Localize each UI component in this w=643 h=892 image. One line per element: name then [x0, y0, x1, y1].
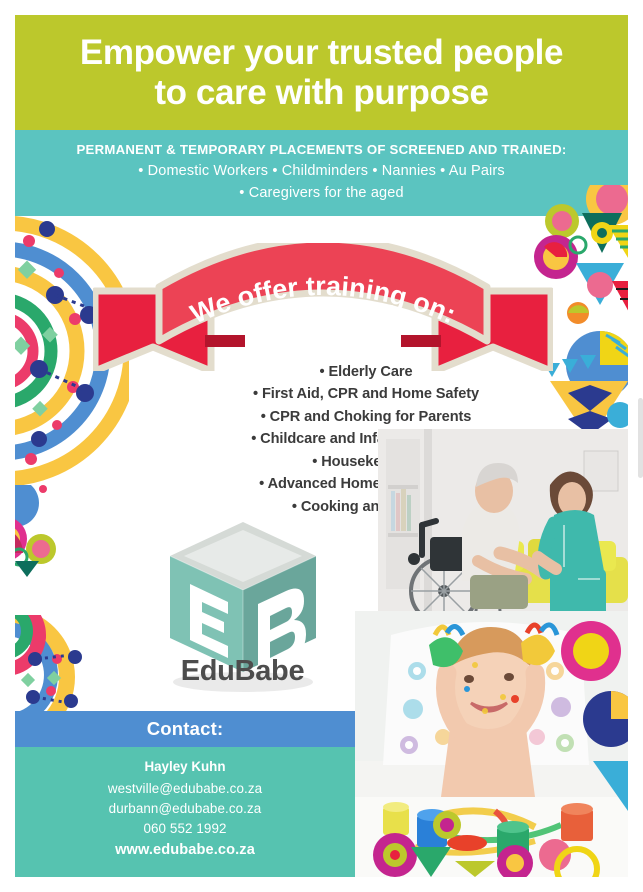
page-scrollbar[interactable] — [638, 398, 643, 478]
training-item: • First Aid, CPR and Home Safety — [151, 383, 581, 405]
headline-line-1: Empower your trusted people — [80, 33, 563, 72]
contact-heading: Contact: — [147, 718, 224, 740]
elder-care-photo — [378, 429, 628, 629]
flyer-sheet: Empower your trusted people to care with… — [15, 15, 628, 877]
contact-phone[interactable]: 060 552 1992 — [143, 819, 226, 839]
subheader-title: PERMANENT & TEMPORARY PLACEMENTS OF SCRE… — [77, 142, 567, 157]
contact-email-1[interactable]: westville@edubabe.co.za — [108, 779, 262, 799]
subheader-line-1: • Domestic Workers • Childminders • Nann… — [138, 161, 505, 182]
logo-wordmark: EduBabe — [135, 655, 350, 688]
flyer-page: Empower your trusted people to care with… — [0, 0, 643, 892]
training-item: • CPR and Choking for Parents — [151, 406, 581, 428]
headline-band: Empower your trusted people to care with… — [15, 15, 628, 130]
baby-painting-photo — [355, 611, 628, 877]
ribbon-shadow-left — [205, 335, 245, 347]
contact-heading-band: Contact: — [15, 711, 355, 747]
confetti-circles-lower-left-decoration — [15, 485, 107, 605]
training-ribbon: We offer training on: — [93, 243, 553, 371]
subheader-line-2: • Caregivers for the aged — [239, 183, 403, 204]
contact-details-band: Hayley Kuhn westville@edubabe.co.za durb… — [15, 747, 355, 877]
contact-name: Hayley Kuhn — [144, 759, 225, 774]
training-item: • Elderly Care — [151, 361, 581, 383]
page-title: Empower your trusted people to care with… — [66, 33, 577, 111]
contact-website[interactable]: www.edubabe.co.za — [115, 842, 255, 858]
ribbon-graphic: We offer training on: — [93, 243, 553, 371]
contact-email-2[interactable]: durbann@edubabe.co.za — [109, 799, 262, 819]
headline-line-2: to care with purpose — [154, 73, 488, 112]
subheader-band: PERMANENT & TEMPORARY PLACEMENTS OF SCRE… — [15, 130, 628, 216]
ribbon-shadow-right — [401, 335, 441, 347]
